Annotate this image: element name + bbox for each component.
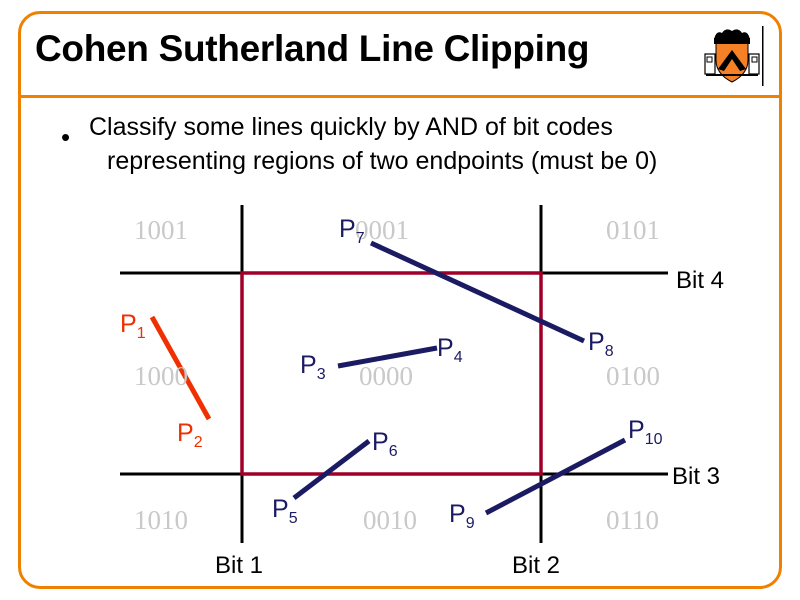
point-label-p4: P4 [437, 334, 463, 367]
region-code-0010: 0010 [363, 505, 417, 536]
bit-label-bit-1: Bit 1 [215, 552, 263, 580]
point-label-p5: P5 [272, 495, 298, 528]
region-code-1010: 1010 [134, 505, 188, 536]
bit-label-bit-4: Bit 4 [676, 267, 724, 295]
point-label-p7: P7 [339, 215, 365, 248]
point-label-p2: P2 [177, 419, 203, 452]
bit-label-bit-3: Bit 3 [672, 463, 720, 491]
bullet-line-2: representing regions of two endpoints (m… [89, 145, 779, 179]
point-label-p10: P10 [628, 416, 662, 449]
bit-label-bit-2: Bit 2 [512, 552, 560, 580]
point-label-p1: P1 [120, 310, 146, 343]
region-code-0101: 0101 [606, 215, 660, 246]
region-code-1000: 1000 [134, 361, 188, 392]
bullet-marker: • [61, 124, 70, 150]
slide: Cohen Sutherland Line Clipping • Classif… [0, 0, 800, 600]
point-label-p9: P9 [449, 500, 475, 533]
region-code-0100: 0100 [606, 361, 660, 392]
region-code-0000: 0000 [359, 361, 413, 392]
bullet-text: Classify some lines quickly by AND of bi… [89, 111, 779, 179]
bullet-line-1: Classify some lines quickly by AND of bi… [89, 111, 779, 145]
princeton-shield-logo [700, 24, 764, 88]
point-label-p6: P6 [372, 428, 398, 461]
region-code-1001: 1001 [134, 215, 188, 246]
region-code-0110: 0110 [606, 505, 659, 536]
point-label-p3: P3 [300, 351, 326, 384]
point-label-p8: P8 [588, 328, 614, 361]
page-title: Cohen Sutherland Line Clipping [35, 28, 675, 70]
